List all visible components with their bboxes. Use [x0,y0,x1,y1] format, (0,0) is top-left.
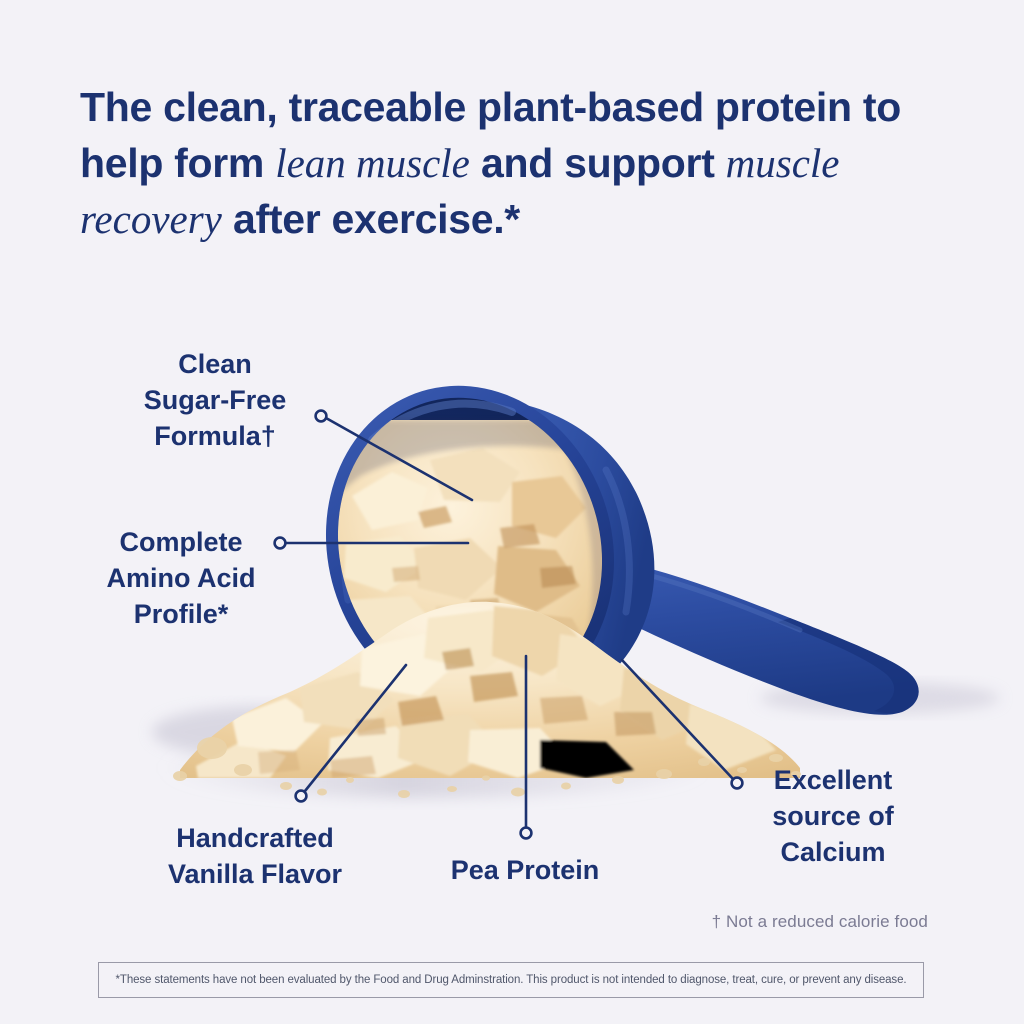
callout-label-clean-sugar-free-formula: Clean Sugar-Free Formula† [110,346,320,454]
disclaimer-text: *These statements have not been evaluate… [116,974,907,986]
callout-label-pea-protein: Pea Protein [430,852,620,888]
headline-part-2: and support [470,140,726,186]
headline-part-3: after exercise.* [222,196,520,242]
disclaimer-box: *These statements have not been evaluate… [98,962,924,998]
footnote-dagger: † Not a reduced calorie food [712,912,928,932]
callout-label-complete-amino-acid-profile: Complete Amino Acid Profile* [86,524,276,632]
page-title: The clean, traceable plant-based protein… [80,79,960,247]
callout-label-excellent-source-of-calcium: Excellent source of Calcium [758,762,908,870]
callout-label-handcrafted-vanilla-flavor: Handcrafted Vanilla Flavor [145,820,365,892]
infographic-canvas: The clean, traceable plant-based protein… [0,0,1024,1024]
headline-emphasis-lean-muscle: lean muscle [275,140,470,186]
